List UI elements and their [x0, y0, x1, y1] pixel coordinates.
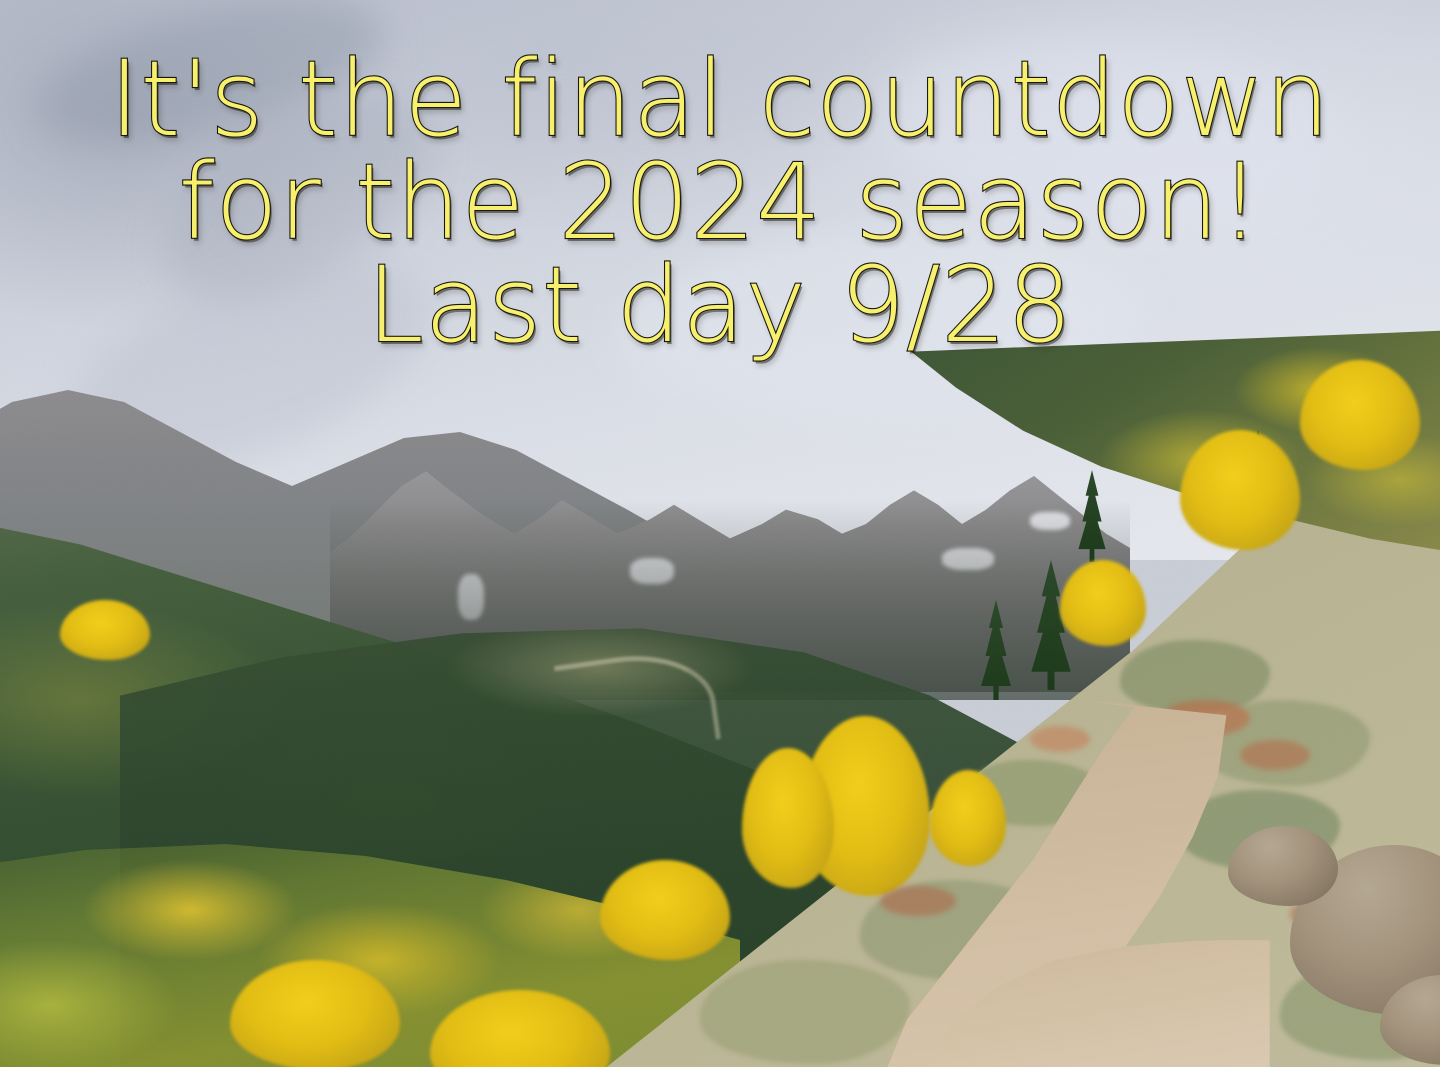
sage-bush: [700, 960, 910, 1064]
rust-groundcover: [1030, 726, 1090, 752]
photo-canvas: It's the final countdown for the 2024 se…: [0, 0, 1440, 1067]
headline-line-1: It's the final countdown: [14, 48, 1425, 151]
aspen-tree: [60, 600, 150, 660]
aspen-tree: [1060, 560, 1146, 646]
granite-boulder: [1228, 826, 1338, 906]
headline-line-3: Last day 9/28: [14, 254, 1425, 357]
rust-groundcover: [1240, 740, 1310, 770]
rust-groundcover: [880, 886, 956, 916]
headline-line-2: for the 2024 season!: [14, 151, 1425, 254]
headline-overlay: It's the final countdown for the 2024 se…: [0, 48, 1440, 357]
